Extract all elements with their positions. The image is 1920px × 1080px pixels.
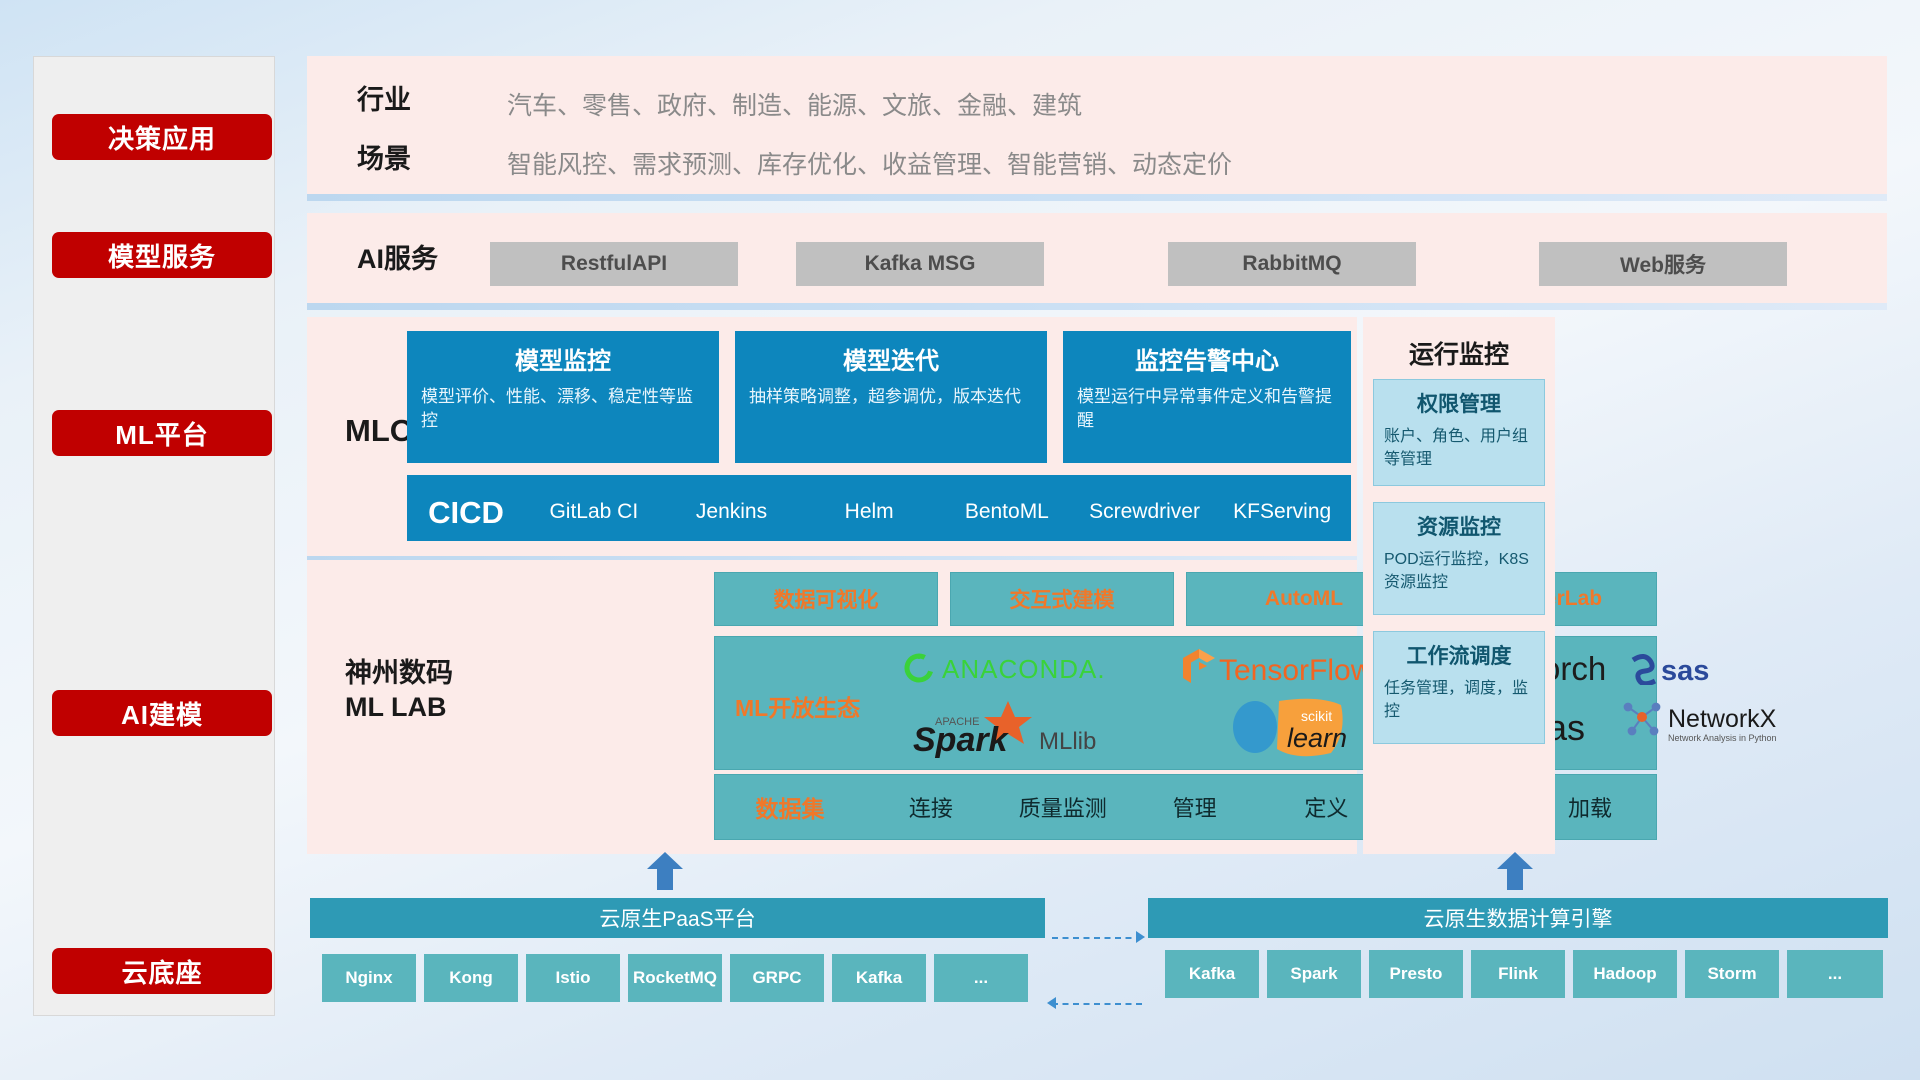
mlops-card-model-monitoring[interactable]: 模型监控 模型评价、性能、漂移、稳定性等监控 <box>407 331 719 463</box>
svg-text:Network Analysis in Python: Network Analysis in Python <box>1668 733 1777 743</box>
node-label: Spark <box>1290 965 1337 984</box>
mlops-card-model-iteration[interactable]: 模型迭代 抽样策略调整，超参调优，版本迭代 <box>735 331 1047 463</box>
ml-lab-label: 神州数码 ML LAB <box>345 657 453 725</box>
monitor-card-permission[interactable]: 权限管理 账户、角色、用户组等管理 <box>1373 379 1545 486</box>
rail-item-label: 云底座 <box>121 953 202 990</box>
node-label: ... <box>1828 965 1842 984</box>
dataset-item-management[interactable]: 管理 <box>1129 791 1261 823</box>
runtime-monitoring-panel: 运行监控 权限管理 账户、角色、用户组等管理 资源监控 POD运行监控，K8S资… <box>1363 317 1555 854</box>
paas-node-grpc[interactable]: GRPC <box>730 954 824 1002</box>
compute-node-storm[interactable]: Storm <box>1685 950 1779 998</box>
arrow-up-compute <box>1495 852 1535 890</box>
scenario-label: 场景 <box>357 143 411 177</box>
service-chip-kafka-msg[interactable]: Kafka MSG <box>796 242 1044 286</box>
node-label: RocketMQ <box>633 969 717 988</box>
card-title: 工作流调度 <box>1384 640 1534 670</box>
compute-node-spark[interactable]: Spark <box>1267 950 1361 998</box>
cicd-item-screwdriver[interactable]: Screwdriver <box>1076 475 1214 525</box>
dataset-label: 数据集 <box>715 790 865 824</box>
card-desc: 抽样策略调整，超参调优，版本迭代 <box>749 385 1033 409</box>
node-label: ... <box>974 969 988 988</box>
svg-text:NetworkX: NetworkX <box>1668 705 1777 733</box>
rail-item-label: 决策应用 <box>108 119 216 156</box>
networkx-logo: NetworkX Network Analysis in Python <box>1620 699 1800 754</box>
card-desc: 模型运行中异常事件定义和告警提醒 <box>1077 385 1337 433</box>
ml-lab-label-line1: 神州数码 <box>345 658 453 688</box>
scenario-value: 智能风控、需求预测、库存优化、收益管理、智能营销、动态定价 <box>507 145 1232 181</box>
service-chip-rabbitmq[interactable]: RabbitMQ <box>1168 242 1416 286</box>
node-label: Kong <box>449 969 492 988</box>
compute-node-kafka[interactable]: Kafka <box>1165 950 1259 998</box>
card-desc: 任务管理，调度，监控 <box>1384 677 1534 723</box>
card-title: 模型迭代 <box>749 341 1033 376</box>
anaconda-logo: ANACONDA. <box>902 651 1140 690</box>
architecture-diagram: 决策应用 模型服务 ML平台 AI建模 云底座 行业 汽车、零售、政府、制造、能… <box>0 0 1920 1080</box>
compute-node-presto[interactable]: Presto <box>1369 950 1463 998</box>
svg-text:ANACONDA.: ANACONDA. <box>942 654 1106 684</box>
cicd-item-bentoml[interactable]: BentoML <box>938 475 1076 525</box>
compute-node-more[interactable]: ... <box>1787 950 1883 998</box>
chip-label: RabbitMQ <box>1242 252 1341 276</box>
ai-modeling-band: 神州数码 ML LAB 数据可视化 交互式建模 AutoML JupyterLa… <box>307 560 1357 854</box>
node-label: Storm <box>1707 965 1756 984</box>
cicd-item-gitlab-ci[interactable]: GitLab CI <box>525 475 663 525</box>
card-desc: 账户、角色、用户组等管理 <box>1384 425 1534 471</box>
rail-item-cloud-base[interactable]: 云底座 <box>52 948 272 994</box>
node-label: Hadoop <box>1593 965 1656 984</box>
cicd-label: CICD <box>407 475 525 531</box>
rail-item-label: ML平台 <box>115 415 209 452</box>
svg-text:Spark: Spark <box>913 721 1010 759</box>
ai-service-label: AI服务 <box>357 243 438 277</box>
chip-label: RestfulAPI <box>561 252 667 276</box>
paas-platform-bar[interactable]: 云原生PaaS平台 <box>310 898 1045 938</box>
card-title: 监控告警中心 <box>1077 341 1337 376</box>
sas-logo: sas <box>1627 651 1747 690</box>
cicd-item-helm[interactable]: Helm <box>800 475 938 525</box>
svg-text:scikit: scikit <box>1301 708 1332 724</box>
ai-service-band: AI服务 RestfulAPI Kafka MSG RabbitMQ Web服务 <box>307 213 1887 303</box>
arrow-up-paas <box>645 852 685 890</box>
card-title: 资源监控 <box>1384 511 1534 541</box>
tool-chip-data-visualization[interactable]: 数据可视化 <box>714 572 938 626</box>
card-desc: 模型评价、性能、漂移、稳定性等监控 <box>421 385 705 433</box>
paas-node-istio[interactable]: Istio <box>526 954 620 1002</box>
compute-node-hadoop[interactable]: Hadoop <box>1573 950 1677 998</box>
tool-chip-interactive-modeling[interactable]: 交互式建模 <box>950 572 1174 626</box>
band-separator <box>307 194 1887 201</box>
card-desc: POD运行监控，K8S资源监控 <box>1384 548 1534 594</box>
mlops-band: MLOps 模型监控 模型评价、性能、漂移、稳定性等监控 模型迭代 抽样策略调整… <box>307 317 1357 556</box>
chip-label: 交互式建模 <box>1010 584 1115 614</box>
dataset-item-quality-monitoring[interactable]: 质量监测 <box>997 791 1129 823</box>
card-title: 权限管理 <box>1384 388 1534 418</box>
monitor-card-resource[interactable]: 资源监控 POD运行监控，K8S资源监控 <box>1373 502 1545 615</box>
svg-text:learn: learn <box>1287 723 1347 753</box>
paas-node-kong[interactable]: Kong <box>424 954 518 1002</box>
node-label: Istio <box>556 969 591 988</box>
eco-label: ML开放生态 <box>735 689 860 723</box>
service-chip-web-service[interactable]: Web服务 <box>1539 242 1787 286</box>
paas-node-rocketmq[interactable]: RocketMQ <box>628 954 722 1002</box>
dashed-connector-left <box>1052 1003 1142 1005</box>
node-label: GRPC <box>752 969 801 988</box>
runtime-monitoring-title: 运行监控 <box>1363 335 1555 371</box>
compute-node-flink[interactable]: Flink <box>1471 950 1565 998</box>
cicd-bar[interactable]: CICD GitLab CI Jenkins Helm BentoML Scre… <box>407 475 1351 541</box>
spark-mllib-logo: APACHE Spark MLlib <box>911 699 1151 764</box>
mlops-card-alert-center[interactable]: 监控告警中心 模型运行中异常事件定义和告警提醒 <box>1063 331 1351 463</box>
chip-label: Web服务 <box>1620 249 1706 279</box>
paas-node-more[interactable]: ... <box>934 954 1028 1002</box>
industry-label: 行业 <box>357 84 411 118</box>
compute-engine-title: 云原生数据计算引擎 <box>1424 903 1613 933</box>
chip-label: 数据可视化 <box>774 584 879 614</box>
dataset-item-connect[interactable]: 连接 <box>865 791 997 823</box>
decision-app-band: 行业 汽车、零售、政府、制造、能源、文旅、金融、建筑 场景 智能风控、需求预测、… <box>307 56 1887 194</box>
compute-engine-bar[interactable]: 云原生数据计算引擎 <box>1148 898 1888 938</box>
node-label: Nginx <box>345 969 392 988</box>
cicd-item-kfserving[interactable]: KFServing <box>1213 475 1351 525</box>
dashed-arrow-right-head <box>1136 931 1145 943</box>
paas-platform-title: 云原生PaaS平台 <box>599 903 755 933</box>
service-chip-restfulapi[interactable]: RestfulAPI <box>490 242 738 286</box>
paas-node-nginx[interactable]: Nginx <box>322 954 416 1002</box>
card-title: 模型监控 <box>421 341 705 376</box>
industry-value: 汽车、零售、政府、制造、能源、文旅、金融、建筑 <box>507 86 1082 122</box>
left-rail <box>33 56 275 1016</box>
dashed-connector-right <box>1052 937 1142 939</box>
dashed-arrow-left-head <box>1047 997 1056 1009</box>
node-label: Kafka <box>1189 965 1235 984</box>
node-label: Flink <box>1498 965 1538 984</box>
node-label: Kafka <box>856 969 902 988</box>
rail-item-ml-platform[interactable]: ML平台 <box>52 410 272 456</box>
rail-item-model-service[interactable]: 模型服务 <box>52 232 272 278</box>
chip-label: AutoML <box>1265 587 1343 611</box>
ml-lab-label-line2: ML LAB <box>345 692 447 722</box>
band-separator <box>307 303 1887 310</box>
node-label: Presto <box>1390 965 1443 984</box>
chip-label: Kafka MSG <box>865 252 976 276</box>
cicd-item-jenkins[interactable]: Jenkins <box>663 475 801 525</box>
rail-item-label: 模型服务 <box>108 237 216 274</box>
svg-text:TensorFlow: TensorFlow <box>1219 654 1373 687</box>
svg-text:sas: sas <box>1661 655 1709 685</box>
svg-text:MLlib: MLlib <box>1039 728 1096 755</box>
rail-item-decision-app[interactable]: 决策应用 <box>52 114 272 160</box>
rail-item-ai-modeling[interactable]: AI建模 <box>52 690 272 736</box>
paas-node-kafka[interactable]: Kafka <box>832 954 926 1002</box>
monitor-card-workflow[interactable]: 工作流调度 任务管理，调度，监控 <box>1373 631 1545 744</box>
rail-item-label: AI建模 <box>121 695 203 732</box>
